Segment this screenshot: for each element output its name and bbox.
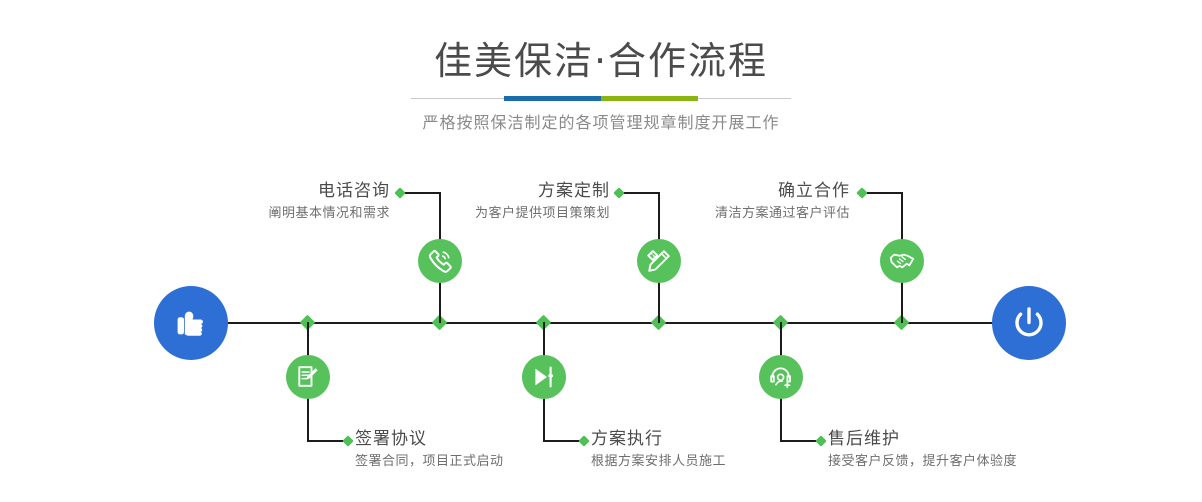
phone-call-icon xyxy=(427,248,453,274)
pencil-ruler-icon xyxy=(646,248,672,274)
connector-arm-5 xyxy=(862,192,902,194)
process-flow-infographic: 佳美保洁·合作流程 严格按照保洁制定的各项管理规章制度开展工作 xyxy=(0,0,1202,502)
step-title-6: 售后维护 xyxy=(828,428,1128,450)
label-marker-5 xyxy=(856,187,867,198)
step-icon-1 xyxy=(418,239,462,283)
step-desc-6: 接受客户反馈，提升客户体验度 xyxy=(828,452,1128,472)
flow-start-node xyxy=(154,286,228,360)
play-slider-icon xyxy=(531,364,557,390)
thumbs-up-icon xyxy=(171,303,211,343)
step-icon-3 xyxy=(637,239,681,283)
step-label-3: 方案定制 为客户提供项目策策划 xyxy=(370,180,610,224)
label-marker-2 xyxy=(342,435,353,446)
divider-segment-blue xyxy=(504,96,601,101)
page-title: 佳美保洁·合作流程 xyxy=(0,0,1202,84)
step-icon-2 xyxy=(286,355,330,399)
flow-diagram: 电话咨询 阐明基本情况和需求 签署协议 签署合同，项目正式启动 xyxy=(0,150,1202,502)
connector-arm-2 xyxy=(307,440,347,442)
timeline-axis xyxy=(155,322,1045,324)
connector-arm-6 xyxy=(780,440,820,442)
page-subtitle: 严格按照保洁制定的各项管理规章制度开展工作 xyxy=(0,112,1202,134)
step-desc-3: 为客户提供项目策策划 xyxy=(370,204,610,224)
step-desc-5: 清洁方案通过客户评估 xyxy=(610,204,850,224)
step-icon-6 xyxy=(759,355,803,399)
step-icon-5 xyxy=(880,239,924,283)
step-title-5: 确立合作 xyxy=(610,180,850,202)
step-title-3: 方案定制 xyxy=(370,180,610,202)
step-label-1: 电话咨询 阐明基本情况和需求 xyxy=(150,180,390,224)
headset-plus-icon xyxy=(768,364,794,390)
power-icon xyxy=(1008,302,1050,344)
header: 佳美保洁·合作流程 严格按照保洁制定的各项管理规章制度开展工作 xyxy=(0,0,1202,134)
flow-end-node xyxy=(992,286,1066,360)
title-divider xyxy=(411,96,791,102)
handshake-icon xyxy=(889,248,915,274)
step-icon-4 xyxy=(522,355,566,399)
step-label-5: 确立合作 清洁方案通过客户评估 xyxy=(610,180,850,224)
step-title-1: 电话咨询 xyxy=(150,180,390,202)
step-label-6: 售后维护 接受客户反馈，提升客户体验度 xyxy=(828,428,1128,472)
document-pen-icon xyxy=(295,364,321,390)
connector-arm-4 xyxy=(543,440,583,442)
divider-segment-green xyxy=(601,96,698,101)
step-desc-1: 阐明基本情况和需求 xyxy=(150,204,390,224)
